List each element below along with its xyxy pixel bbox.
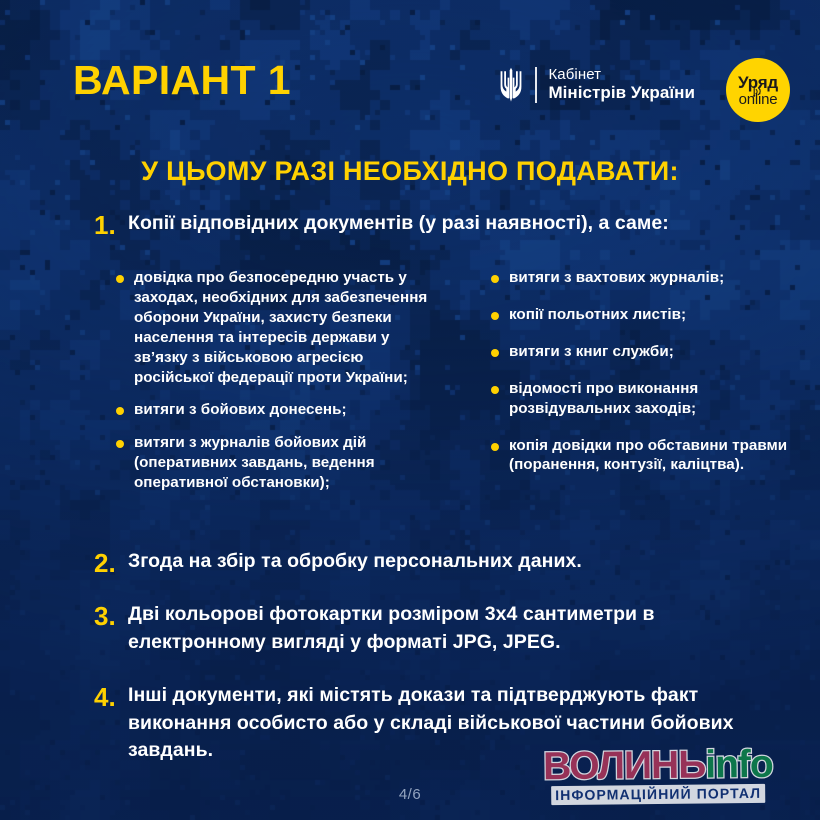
bullet-dot-icon — [491, 349, 499, 357]
bullet-dot-icon — [491, 275, 499, 283]
bullet-text: відомості про виконання розвідувальних з… — [509, 379, 811, 419]
bullet-dot-icon — [491, 386, 499, 394]
bullet-dot-icon — [116, 275, 124, 283]
cabinet-of-ministers-logo: Кабінет Міністрів України — [498, 66, 695, 104]
bullet-text: копія довідки про обставини травми (пора… — [509, 436, 811, 476]
list-item-3: 3. Дві кольорові фотокартки розміром 3х4… — [94, 601, 770, 656]
page-title: ВАРІАНТ 1 — [73, 60, 291, 101]
bullet-text: довідка про безпосередню участь у захода… — [134, 268, 441, 387]
watermark-title: ВОЛИНЬinfo — [512, 745, 804, 785]
bullet-column-right: витяги з вахтових журналів; копії польот… — [471, 268, 811, 506]
bullet-text: витяги з вахтових журналів; — [509, 268, 724, 288]
bullet-dot-icon — [491, 443, 499, 451]
uryad-online-badge[interactable]: Уряд online — [726, 58, 790, 122]
list-item: витяги з бойових донесень; — [116, 400, 441, 420]
bullet-columns: довідка про безпосередню участь у захода… — [116, 268, 770, 506]
bullet-text: копії польотних листів; — [509, 305, 686, 325]
section-heading: У ЦЬОМУ РАЗІ НЕОБХІДНО ПОДАВАТИ: — [0, 156, 820, 187]
watermark: ВОЛИНЬinfo ІНФОРМАЦІЙНИЙ ПОРТАЛ — [512, 745, 805, 805]
item-text: Копії відповідних документів (у разі ная… — [128, 210, 669, 238]
list-item: довідка про безпосередню участь у захода… — [116, 268, 441, 387]
ukrainian-trident-icon — [498, 67, 524, 103]
watermark-part-1: ВОЛИНЬ — [543, 743, 706, 788]
item-text: Згода на збір та обробку персональних да… — [128, 548, 582, 576]
list-item-2: 2. Згода на збір та обробку персональних… — [94, 548, 770, 579]
list-item: копії польотних листів; — [491, 305, 811, 325]
slide-canvas: ВАРІАНТ 1 Кабінет Міністрів України Уряд — [0, 0, 820, 820]
wifi-signal-icon — [753, 86, 763, 97]
item-text: Дві кольорові фотокартки розміром 3х4 са… — [128, 601, 770, 656]
item-number: 4. — [94, 682, 128, 713]
bullet-text: витяги з журналів бойових дій (оперативн… — [134, 433, 441, 493]
list-item-1: 1. Копії відповідних документів (у разі … — [94, 210, 770, 241]
logo-line-1: Кабінет — [548, 66, 695, 83]
item-number: 2. — [94, 548, 128, 579]
logo-line-2: Міністрів України — [548, 83, 695, 103]
item-number: 3. — [94, 601, 128, 632]
watermark-part-2: info — [705, 743, 773, 787]
slide-header: ВАРІАНТ 1 Кабінет Міністрів України Уряд — [0, 56, 820, 126]
bullet-dot-icon — [116, 440, 124, 448]
list-item: витяги з книг служби; — [491, 342, 811, 362]
list-item: відомості про виконання розвідувальних з… — [491, 379, 811, 419]
bullet-column-left: довідка про безпосередню участь у захода… — [116, 268, 441, 506]
list-item: копія довідки про обставини травми (пора… — [491, 436, 811, 476]
bullet-dot-icon — [491, 312, 499, 320]
item-number: 1. — [94, 210, 128, 241]
list-item: витяги з журналів бойових дій (оперативн… — [116, 433, 441, 493]
bullet-dot-icon — [116, 407, 124, 415]
watermark-subtitle: ІНФОРМАЦІЙНИЙ ПОРТАЛ — [551, 784, 765, 805]
logo-divider — [535, 67, 537, 103]
list-item: витяги з вахтових журналів; — [491, 268, 811, 288]
bullet-text: витяги з бойових донесень; — [134, 400, 347, 420]
bullet-text: витяги з книг служби; — [509, 342, 674, 362]
